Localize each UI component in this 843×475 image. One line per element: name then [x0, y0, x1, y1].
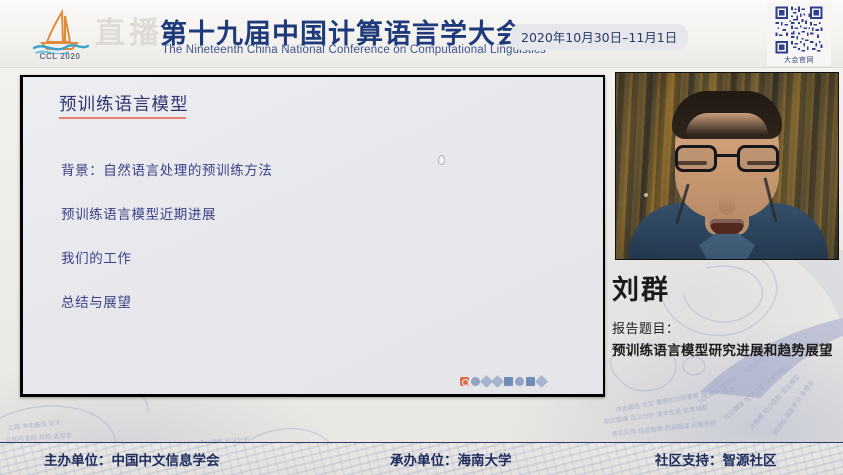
mouse-cursor: [438, 155, 445, 165]
sponsor-footer-bar: 主办单位：中国中文信息学会 承办单位：海南大学 社区支持：智源社区: [0, 442, 843, 475]
slide-icon[interactable]: [504, 377, 513, 386]
laser-icon[interactable]: [526, 377, 535, 386]
conference-date-badge: 2020年10月30日–11月1日: [510, 24, 688, 50]
eraser-icon[interactable]: [515, 377, 524, 386]
speaker-webcam-frame[interactable]: [615, 72, 839, 260]
conference-subtitle-en: The Nineteenth China National Conference…: [162, 44, 546, 56]
pointer-icon[interactable]: [471, 377, 480, 386]
footer-community: 社区支持：智源社区: [655, 449, 777, 469]
presentation-slide-frame[interactable]: 预训练语言模型 背景：自然语言处理的预训练方法 预训练语言模型近期进展 我们的工…: [20, 75, 605, 397]
svg-text:预训练 深度学习 多模态: 预训练 深度学习 多模态: [771, 379, 815, 437]
slide-title-underline: [59, 117, 186, 119]
ccl-sailboat-logo: CCL 2020: [22, 8, 98, 62]
broadcast-stage: 知识图谱 语义分析 文本生成 信息抽取 命名实体 信息检索 机器翻译 问答系统 …: [0, 0, 843, 475]
slide-bullet-list: 背景：自然语言处理的预训练方法 预训练语言模型近期进展 我们的工作 总结与展望: [61, 159, 481, 335]
speaker-name: 刘群: [612, 276, 843, 306]
powerpoint-icon[interactable]: [460, 377, 469, 386]
slide-bullet: 预训练语言模型近期进展: [61, 203, 481, 223]
speaker-webcam-video[interactable]: [616, 73, 838, 259]
footer-organizer: 承办单位：海南大学: [390, 449, 512, 469]
powerpoint-presenter-toolbar[interactable]: [457, 375, 549, 388]
conference-qr-code[interactable]: 大会官网: [767, 2, 831, 66]
presentation-slide[interactable]: 预训练语言模型 背景：自然语言处理的预训练方法 预训练语言模型近期进展 我们的工…: [23, 77, 603, 394]
logo-caption: CCL 2020: [22, 52, 98, 61]
header-watermark: 直播: [95, 8, 163, 52]
qr-code-label: 大会官网: [770, 55, 828, 65]
footer-host: 主办单位：中国中文信息学会: [44, 449, 220, 469]
speaker-topic-label: 报告题目：: [612, 318, 843, 337]
svg-text:之路 冲击最佳 论文: 之路 冲击最佳 论文: [7, 418, 61, 432]
conference-header: 直播 CCL 2020 第十九届中国计算语言学大会 The Nineteenth…: [0, 0, 843, 68]
slide-bullet: 我们的工作: [61, 247, 481, 267]
slide-bullet: 总结与展望: [61, 291, 481, 311]
qr-code-icon: [770, 5, 828, 55]
slide-bullet: 背景：自然语言处理的预训练方法: [61, 159, 481, 179]
speaker-topic: 预训练语言模型研究进展和趋势展望: [612, 339, 843, 359]
highlighter-icon[interactable]: [491, 375, 504, 388]
webcam-vignette: [616, 73, 838, 259]
speaker-info-panel: 刘群 报告题目： 预训练语言模型研究进展和趋势展望: [612, 276, 843, 359]
settings-icon[interactable]: [535, 375, 548, 388]
